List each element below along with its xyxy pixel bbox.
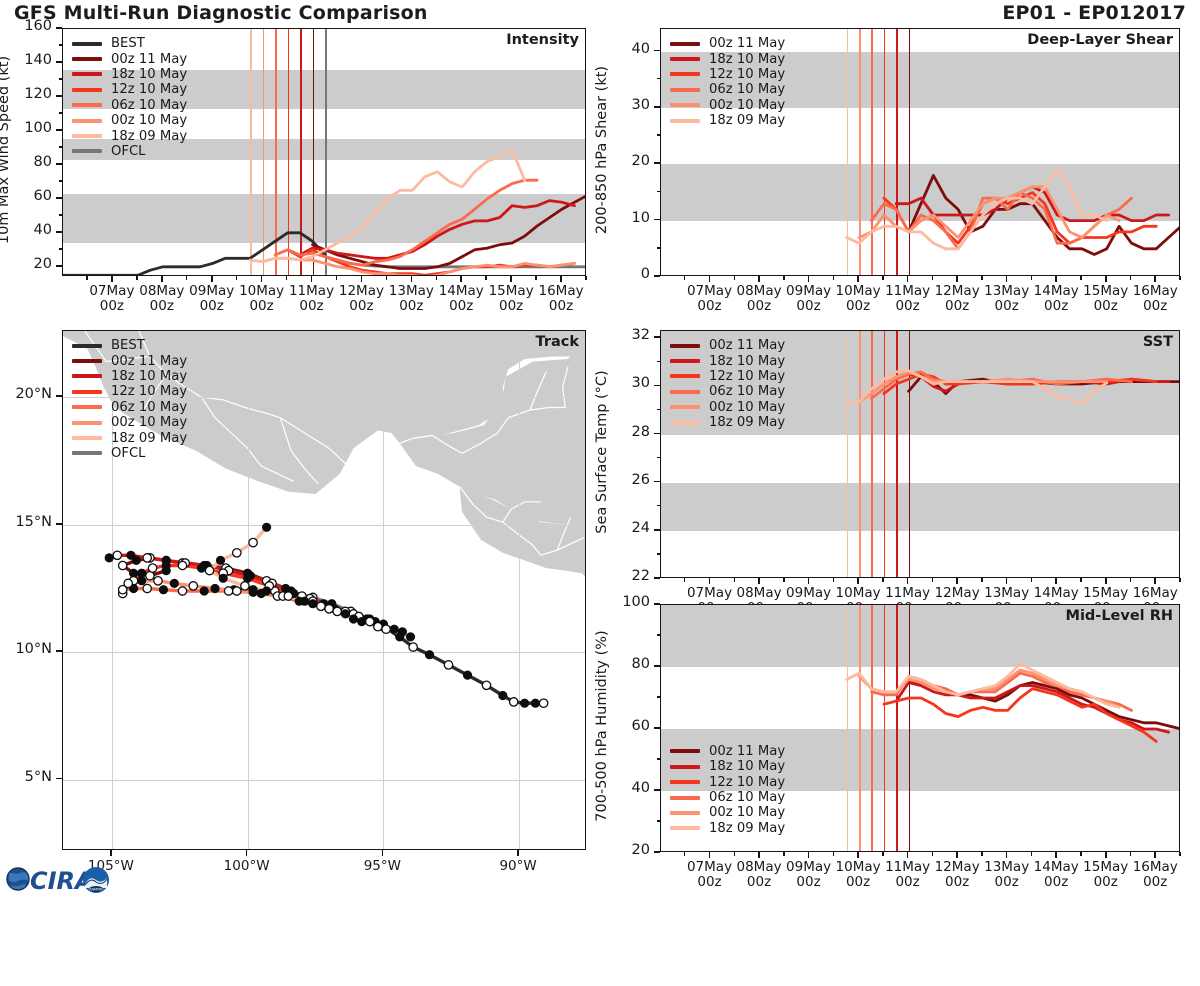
shear-legend: 00z 11 May18z 10 May12z 10 May06z 10 May… (670, 36, 785, 128)
track-position-marker (138, 569, 146, 577)
sst-ytick-minor (657, 337, 661, 338)
intensity-xtick-minor (510, 276, 511, 280)
intensity-ytick-minor (59, 27, 63, 28)
intensity-panel: 2040608010012014016010m Max Wind Speed (… (62, 28, 586, 276)
track-legend-label: 00z 10 May (111, 415, 187, 430)
intensity-xtick-minor (136, 276, 137, 280)
track-legend-label: BEST (111, 338, 145, 353)
intensity-ytick-minor (59, 231, 63, 232)
shear-ytick-minor (657, 106, 661, 107)
intensity-legend-item: 00z 11 May (72, 51, 187, 66)
intensity-legend-label: 00z 11 May (111, 52, 187, 67)
shear-xtick-minor (907, 276, 908, 280)
shear-ytick-minor (657, 50, 661, 51)
track-ytick-label: 10°N (0, 641, 52, 657)
intensity-legend-label: 18z 10 May (111, 67, 187, 82)
rh-xtick-minor (981, 852, 982, 856)
shear-xtick-minor (758, 276, 759, 280)
shear-legend-label: 00z 11 May (709, 36, 785, 51)
track-position-marker (159, 586, 167, 594)
track-xtick-mark (517, 850, 519, 856)
intensity-ytick-minor (59, 163, 63, 164)
rh-xtick-minor (1031, 852, 1032, 856)
intensity-xtick-minor (560, 276, 561, 280)
sst-xtick-minor (1130, 578, 1131, 582)
rh-xtick-minor (1130, 852, 1131, 856)
rh-legend-item: 00z 10 May (670, 805, 785, 820)
track-position-marker (444, 661, 452, 669)
rh-legend-swatch (670, 749, 700, 753)
intensity-xtick-minor (286, 276, 287, 280)
rh-legend-item: 18z 09 May (670, 821, 785, 836)
rh-legend-label: 12z 10 May (709, 775, 785, 790)
sst-legend-swatch (670, 421, 700, 425)
sst-legend-item: 00z 10 May (670, 400, 785, 415)
sst-legend-label: 18z 09 May (709, 415, 785, 430)
intensity-legend-swatch (72, 72, 102, 76)
track-position-marker (520, 699, 528, 707)
track-position-marker (539, 699, 547, 707)
track-legend-label: 18z 09 May (111, 431, 187, 446)
shear-xtick-minor (1031, 276, 1032, 280)
intensity-legend-label: 12z 10 May (111, 82, 187, 97)
track-position-marker (197, 564, 205, 572)
sst-ytick-minor (657, 481, 661, 482)
track-position-marker (482, 681, 490, 689)
sst-xtick-minor (783, 578, 784, 582)
intensity-xtick-minor (86, 276, 87, 280)
intensity-ytick-minor (59, 78, 63, 79)
rh-legend-item: 00z 11 May (670, 744, 785, 759)
intensity-xtick-minor (585, 276, 586, 280)
rh-xtick-minor (833, 852, 834, 856)
shear-legend-swatch (670, 72, 700, 76)
sst-legend-swatch (670, 405, 700, 409)
track-position-marker (178, 587, 186, 595)
rh-legend: 00z 11 May18z 10 May12z 10 May06z 10 May… (670, 744, 785, 836)
track-position-marker (143, 554, 151, 562)
rh-xtick-minor (684, 852, 685, 856)
track-ytick-mark (56, 523, 62, 525)
track-ytick-mark (56, 395, 62, 397)
sst-legend-label: 06z 10 May (709, 384, 785, 399)
rh-ytick-minor (657, 634, 661, 635)
track-position-marker (241, 582, 249, 590)
track-xtick-label: 100°W (202, 859, 292, 874)
shear-legend-swatch (670, 88, 700, 92)
shear-xtick-minor (734, 276, 735, 280)
sst-xtick-minor (1179, 578, 1180, 582)
rh-ytick-minor (657, 789, 661, 790)
shear-xtick-minor (1130, 276, 1131, 280)
sst-xtick-minor (907, 578, 908, 582)
track-position-marker (211, 584, 219, 592)
track-ytick-mark (56, 650, 62, 652)
shear-xtick-minor (857, 276, 858, 280)
shear-xtick-minor (1055, 276, 1056, 280)
sst-xtick-minor (684, 578, 685, 582)
rh-legend-label: 18z 09 May (709, 821, 785, 836)
rh-xtick-minor (907, 852, 908, 856)
rh-xtick-minor (956, 852, 957, 856)
rh-legend-label: 18z 10 May (709, 759, 785, 774)
shear-xtick-minor (1080, 276, 1081, 280)
shear-ytick-minor (657, 191, 661, 192)
track-position-marker (162, 561, 170, 569)
sst-legend-item: 06z 10 May (670, 384, 785, 399)
track-legend-item: 18z 10 May (72, 369, 187, 384)
track-legend: BEST00z 11 May18z 10 May12z 10 May06z 10… (72, 338, 187, 461)
track-position-marker (219, 574, 227, 582)
shear-xtick-minor (932, 276, 933, 280)
intensity-xtick-minor (211, 276, 212, 280)
intensity-xtick-minor (161, 276, 162, 280)
shear-xtick-minor (709, 276, 710, 280)
storm-identifier: EP01 - EP012017 (1002, 2, 1186, 24)
track-ytick-label: 20°N (0, 386, 52, 402)
sst-legend-label: 18z 10 May (709, 354, 785, 369)
track-legend-label: OFCL (111, 446, 146, 461)
intensity-ytick-minor (59, 146, 63, 147)
sst-legend-item: 18z 10 May (670, 353, 785, 368)
track-position-marker (262, 587, 270, 595)
rh-xtick-minor (932, 852, 933, 856)
sst-xtick-minor (932, 578, 933, 582)
track-legend-item: 12z 10 May (72, 384, 187, 399)
intensity-series-line (63, 233, 325, 275)
track-position-marker (284, 592, 292, 600)
rh-legend-item: 12z 10 May (670, 774, 785, 789)
intensity-xtick-minor (336, 276, 337, 280)
shear-legend-item: 00z 11 May (670, 36, 785, 51)
intensity-xtick-minor (236, 276, 237, 280)
shear-legend-swatch (670, 57, 700, 61)
intensity-legend-swatch (72, 42, 102, 46)
intensity-xtick-minor (361, 276, 362, 280)
track-position-marker (127, 551, 135, 559)
sst-series-line (859, 372, 1107, 402)
rh-xtick-minor (882, 852, 883, 856)
shear-legend-item: 18z 09 May (670, 113, 785, 128)
track-legend-item: BEST (72, 338, 187, 353)
shear-legend-swatch (670, 42, 700, 46)
shear-ytick-minor (657, 163, 661, 164)
intensity-legend-swatch (72, 134, 102, 138)
track-position-marker (170, 579, 178, 587)
sst-panel-title: SST (1143, 334, 1173, 350)
track-position-marker (366, 617, 374, 625)
sst-ytick-minor (657, 409, 661, 410)
rh-ytick-minor (657, 603, 661, 604)
rh-legend-label: 06z 10 May (709, 790, 785, 805)
sst-xtick-minor (808, 578, 809, 582)
rh-ytick-minor (657, 851, 661, 852)
intensity-xtick-minor (411, 276, 412, 280)
track-ytick-label: 15°N (0, 514, 52, 530)
track-position-marker (200, 587, 208, 595)
shear-ytick-minor (657, 275, 661, 276)
sst-legend-item: 00z 11 May (670, 338, 785, 353)
track-position-marker (143, 584, 151, 592)
rh-legend-swatch (670, 811, 700, 815)
intensity-legend-label: OFCL (111, 144, 146, 159)
track-position-marker (148, 564, 156, 572)
intensity-legend-item: BEST (72, 36, 187, 51)
intensity-legend-label: 00z 10 May (111, 113, 187, 128)
rh-legend-swatch (670, 780, 700, 784)
track-position-marker (224, 587, 232, 595)
sst-legend-item: 12z 10 May (670, 369, 785, 384)
sst-xtick-minor (833, 578, 834, 582)
sst-ytick-minor (657, 529, 661, 530)
sst-ytick-minor (657, 505, 661, 506)
shear-xtick-minor (956, 276, 957, 280)
sst-xtick-minor (709, 578, 710, 582)
shear-panel-title: Deep-Layer Shear (1027, 32, 1173, 48)
shear-legend-label: 06z 10 May (709, 82, 785, 97)
track-position-marker (499, 691, 507, 699)
track-xtick-mark (246, 850, 248, 856)
shear-series-line (847, 170, 1107, 249)
intensity-ytick-minor (59, 44, 63, 45)
intensity-panel-title: Intensity (506, 32, 579, 48)
shear-xtick-minor (684, 276, 685, 280)
intensity-legend-item: OFCL (72, 144, 187, 159)
sst-legend-label: 00z 10 May (709, 400, 785, 415)
intensity-xtick-minor (186, 276, 187, 280)
track-legend-item: 00z 11 May (72, 353, 187, 368)
intensity-xtick-label: 16May00z (521, 284, 601, 314)
intensity-legend-swatch (72, 149, 102, 153)
intensity-legend-label: 18z 09 May (111, 129, 187, 144)
intensity-xtick-minor (311, 276, 312, 280)
track-ytick-label: 5°N (0, 769, 52, 785)
shear-ytick-minor (657, 134, 661, 135)
sst-xtick-minor (758, 578, 759, 582)
track-legend-swatch (72, 390, 102, 394)
sst-xtick-minor (1080, 578, 1081, 582)
intensity-legend-swatch (72, 57, 102, 61)
rh-legend-swatch (670, 765, 700, 769)
rh-xtick-minor (1105, 852, 1106, 856)
sst-xtick-minor (734, 578, 735, 582)
intensity-series-line (250, 150, 524, 262)
rh-xtick-minor (758, 852, 759, 856)
intensity-legend-item: 18z 10 May (72, 67, 187, 82)
track-panel: 5°N10°N15°N20°N105°W100°W95°W90°WTrackBE… (62, 330, 586, 850)
intensity-legend-item: 12z 10 May (72, 82, 187, 97)
rh-ytick-minor (657, 758, 661, 759)
sst-legend-swatch (670, 359, 700, 363)
sst-ytick-minor (657, 553, 661, 554)
track-position-marker (333, 607, 341, 615)
rh-xtick-minor (1055, 852, 1056, 856)
shear-legend-item: 18z 10 May (670, 51, 785, 66)
track-legend-swatch (72, 344, 102, 348)
intensity-legend-item: 06z 10 May (72, 98, 187, 113)
rh-xtick-minor (709, 852, 710, 856)
track-legend-label: 00z 11 May (111, 354, 187, 369)
track-position-marker (349, 615, 357, 623)
track-position-marker (325, 605, 333, 613)
rh-xtick-minor (1080, 852, 1081, 856)
shear-xtick-minor (1006, 276, 1007, 280)
shear-xtick-minor (882, 276, 883, 280)
intensity-xtick-minor (261, 276, 262, 280)
intensity-legend-swatch (72, 119, 102, 123)
track-legend-item: 00z 10 May (72, 415, 187, 430)
rh-legend-swatch (670, 826, 700, 830)
track-xtick-label: 90°W (473, 859, 563, 874)
shear-xtick-minor (1155, 276, 1156, 280)
rh-xtick-minor (857, 852, 858, 856)
track-position-marker (374, 623, 382, 631)
sst-legend-swatch (670, 374, 700, 378)
intensity-ytick-minor (59, 197, 63, 198)
shear-xtick-minor (783, 276, 784, 280)
track-legend-item: OFCL (72, 446, 187, 461)
rh-legend-item: 18z 10 May (670, 759, 785, 774)
sst-legend-swatch (670, 390, 700, 394)
cira-logo: CIRA RAMMB (4, 858, 114, 898)
intensity-xtick-minor (386, 276, 387, 280)
track-legend-item: 18z 09 May (72, 430, 187, 445)
track-legend-label: 06z 10 May (111, 400, 187, 415)
track-position-marker (390, 625, 398, 633)
shear-legend-swatch (670, 103, 700, 107)
track-position-marker (138, 577, 146, 585)
intensity-ytick-minor (59, 265, 63, 266)
rh-xtick-minor (783, 852, 784, 856)
track-position-marker (398, 628, 406, 636)
sst-ytick-minor (657, 457, 661, 458)
shear-legend-item: 00z 10 May (670, 98, 785, 113)
shear-ytick-minor (657, 219, 661, 220)
rh-legend-label: 00z 10 May (709, 805, 785, 820)
track-position-marker (309, 600, 317, 608)
shear-xtick-minor (1179, 276, 1180, 280)
intensity-series-line (313, 196, 587, 269)
track-position-marker (409, 643, 417, 651)
rh-y-axis-label: 700-500 hPa Humidity (%) (594, 466, 610, 986)
shear-panel: 010203040200-850 hPa Shear (kt)07May00z0… (660, 28, 1180, 276)
shear-legend-label: 18z 10 May (709, 52, 785, 67)
sst-xtick-minor (956, 578, 957, 582)
intensity-ytick-minor (59, 180, 63, 181)
rh-panel-title: Mid-Level RH (1066, 608, 1173, 624)
shear-legend-label: 00z 10 May (709, 98, 785, 113)
sst-xtick-minor (1055, 578, 1056, 582)
sst-ytick-minor (657, 361, 661, 362)
rh-xtick-minor (808, 852, 809, 856)
track-panel-title: Track (536, 334, 579, 350)
sst-ytick-minor (657, 577, 661, 578)
track-position-marker (317, 602, 325, 610)
track-legend-swatch (72, 374, 102, 378)
track-line (210, 527, 411, 637)
track-position-marker (205, 566, 213, 574)
rh-ytick-minor (657, 727, 661, 728)
track-legend-swatch (72, 359, 102, 363)
track-position-marker (510, 698, 518, 706)
intensity-ytick-minor (59, 248, 63, 249)
shear-xtick-minor (808, 276, 809, 280)
intensity-legend-label: BEST (111, 36, 145, 51)
intensity-legend: BEST00z 11 May18z 10 May12z 10 May06z 10… (72, 36, 187, 159)
track-position-marker (119, 561, 127, 569)
sst-legend-item: 18z 09 May (670, 415, 785, 430)
track-position-marker (249, 588, 257, 596)
intensity-ytick-minor (59, 61, 63, 62)
shear-legend-item: 12z 10 May (670, 67, 785, 82)
rh-legend-swatch (670, 796, 700, 800)
intensity-xtick-minor (535, 276, 536, 280)
track-position-marker (105, 554, 113, 562)
track-position-marker (178, 561, 186, 569)
track-legend-swatch (72, 451, 102, 455)
track-legend-label: 18z 10 May (111, 369, 187, 384)
track-legend-swatch (72, 421, 102, 425)
sst-legend-label: 00z 11 May (709, 338, 785, 353)
sst-legend-swatch (670, 344, 700, 348)
intensity-ytick-minor (59, 214, 63, 215)
track-position-marker (262, 523, 270, 531)
rh-xtick-minor (1006, 852, 1007, 856)
page-title: GFS Multi-Run Diagnostic Comparison (14, 2, 428, 24)
track-position-marker (341, 610, 349, 618)
track-position-marker (249, 538, 257, 546)
track-position-marker (300, 597, 308, 605)
shear-legend-item: 06z 10 May (670, 82, 785, 97)
intensity-xtick-minor (111, 276, 112, 280)
track-position-marker (154, 577, 162, 585)
sst-panel: 222426283032Sea Surface Temp (°C)07May00… (660, 330, 1180, 578)
track-position-marker (216, 556, 224, 564)
intensity-xtick-minor (436, 276, 437, 280)
rh-ytick-minor (657, 696, 661, 697)
rh-panel: 20406080100700-500 hPa Humidity (%)07May… (660, 604, 1180, 852)
shear-xtick-minor (833, 276, 834, 280)
intensity-ytick-minor (59, 112, 63, 113)
intensity-legend-swatch (72, 88, 102, 92)
intensity-y-axis-label: 10m Max Wind Speed (kt) (0, 0, 12, 412)
intensity-xtick-minor (461, 276, 462, 280)
rh-legend-label: 00z 11 May (709, 744, 785, 759)
track-ytick-mark (56, 778, 62, 780)
shear-legend-label: 18z 09 May (709, 113, 785, 128)
intensity-legend-item: 18z 09 May (72, 128, 187, 143)
rh-legend-item: 06z 10 May (670, 790, 785, 805)
sst-ytick-minor (657, 433, 661, 434)
track-legend-label: 12z 10 May (111, 384, 187, 399)
shear-legend-label: 12z 10 May (709, 67, 785, 82)
shear-xtick-label: 16May00z (1115, 284, 1195, 314)
track-position-marker (358, 617, 366, 625)
sst-ytick-minor (657, 385, 661, 386)
sst-legend: 00z 11 May18z 10 May12z 10 May06z 10 May… (670, 338, 785, 430)
sst-xtick-minor (857, 578, 858, 582)
intensity-series-line (288, 250, 575, 275)
track-position-marker (463, 671, 471, 679)
track-position-marker (113, 551, 121, 559)
rh-xtick-minor (1179, 852, 1180, 856)
sst-xtick-minor (882, 578, 883, 582)
intensity-legend-item: 00z 10 May (72, 113, 187, 128)
track-legend-item: 06z 10 May (72, 400, 187, 415)
track-xtick-label: 95°W (337, 859, 427, 874)
track-xtick-mark (382, 850, 384, 856)
sst-xtick-minor (1105, 578, 1106, 582)
